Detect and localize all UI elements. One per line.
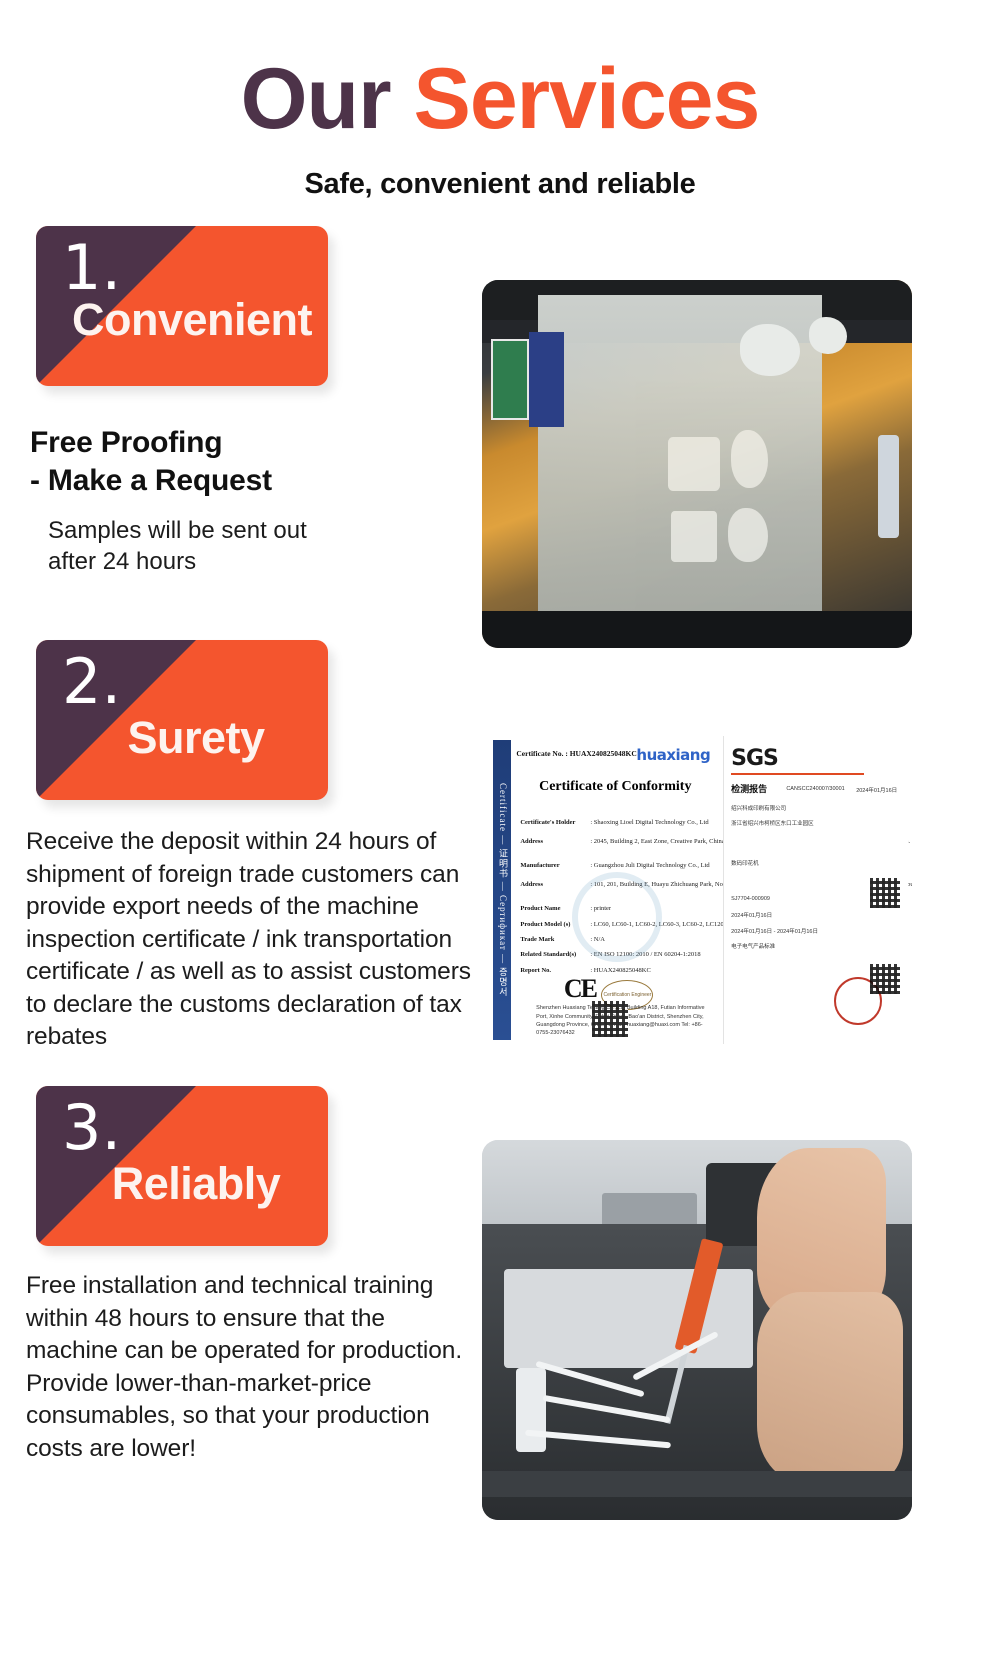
cert-row-label-1: Address — [520, 838, 590, 845]
service-2-badge-wrap: 2. Surety — [36, 640, 328, 800]
certificate-footer: Shenzhen Huaxiang Testing Co., Ltd Build… — [536, 1004, 714, 1037]
sgs-row-3: SJ7704-000909 — [731, 896, 770, 902]
page-subtitle: Safe, convenient and reliable — [0, 168, 1000, 201]
certificate-number-value: HUAX240825048KC — [570, 749, 637, 758]
page-title: Our Services — [0, 56, 1000, 142]
badge-card-3[interactable]: 3. Reliably — [36, 1086, 328, 1246]
badge-label-1: Convenient — [72, 294, 312, 346]
page-header: Our Services Safe, convenient and reliab… — [0, 0, 1000, 201]
sgs-row-5: 2024年01月16日 - 2024年01月16日 — [731, 927, 818, 935]
sgs-qr-code-2 — [870, 964, 900, 994]
service-1-note: Samples will be sent out after 24 hours — [48, 515, 318, 577]
sgs-underline — [731, 773, 863, 775]
cert-row-label-7: Related Standard(s) — [520, 951, 590, 958]
service-1-heading: Free Proofing - Make a Request — [30, 424, 450, 501]
cert-row-label-0: Certificate's Holder — [520, 819, 590, 826]
certificate-right-page: SGS 检测报告 CANSCC240007/30001 2024年01月16日 … — [723, 736, 908, 1043]
service-1-badge-wrap: 1. Convenient — [36, 226, 328, 386]
cert-row-value-2: : Guangzhou Juli Digital Technology Co.,… — [590, 862, 709, 869]
certificate-number: Certificate No. : HUAX240825048KC — [516, 749, 636, 758]
title-word-our: Our — [241, 51, 414, 147]
service-2-paragraph: Receive the deposit within 24 hours of s… — [26, 826, 476, 1054]
machine-rail — [482, 1471, 912, 1498]
badge-number-2: 2. — [62, 648, 121, 716]
technician-photo — [482, 1140, 912, 1520]
badge-number-1: 1. — [62, 234, 121, 302]
badge-label-3: Reliably — [36, 1158, 356, 1210]
film-pattern-2 — [731, 430, 768, 488]
certificate-photo: Certificate — 证明书 — Сертификат — 증명서 Cer… — [482, 730, 912, 1050]
sgs-row-1: 浙江省绍兴市柯桥区东口工业园区 — [731, 819, 814, 827]
metal-bracket — [602, 1193, 697, 1227]
service-1-text: Free Proofing - Make a Request Samples w… — [30, 424, 450, 577]
sgs-row-4: 2024年01月16日 — [731, 911, 772, 919]
sgs-row-6: 电子电气产品标准 — [731, 942, 775, 950]
sgs-report-date: 2024年01月16日 — [856, 786, 897, 794]
certificate-left-page: Certificate No. : HUAX240825048KC huaxia… — [516, 736, 714, 1043]
film-pattern-4 — [728, 508, 768, 562]
technician-arm-left — [757, 1292, 903, 1482]
service-1-heading-line1: Free Proofing — [30, 424, 450, 462]
badge-card-2[interactable]: 2. Surety — [36, 640, 328, 800]
service-1-heading-line2: - Make a Request — [30, 462, 450, 500]
cert-row-label-2: Manufacturer — [520, 862, 590, 869]
sgs-logo: SGS — [731, 746, 778, 771]
certificate-watermark — [572, 872, 662, 962]
film-pattern-5 — [740, 324, 800, 376]
green-label — [491, 339, 530, 420]
ce-mark: CE — [564, 974, 596, 1004]
film-pattern-1 — [668, 437, 719, 491]
certificate-number-label: Certificate No. : — [516, 749, 567, 758]
machine-panel — [504, 1269, 753, 1368]
ink-bottle — [878, 435, 900, 538]
service-3-badge-wrap: 3. Reliably — [36, 1086, 328, 1246]
blue-panel — [529, 332, 563, 428]
cert-row-value-8: : HUAX240825048KC — [590, 967, 651, 974]
sgs-qr-code-1 — [870, 878, 900, 908]
cable-connector — [516, 1368, 546, 1452]
certificate-title: Certificate of Conformity — [516, 779, 714, 795]
cert-row-label-3: Address — [520, 881, 590, 888]
printer-film-photo — [482, 280, 912, 648]
printer-bottom-bar — [482, 611, 912, 648]
badge-card-1[interactable]: 1. Convenient — [36, 226, 328, 386]
sgs-row-0: 绍兴科成印刷有限公司 — [731, 804, 786, 812]
title-word-services: Services — [413, 51, 759, 147]
badge-number-3: 3. — [62, 1094, 121, 1162]
sgs-row-2: 数码印花机 — [731, 859, 759, 867]
sgs-report-no: CANSCC240007/30001 — [786, 786, 844, 792]
certificate-side-text: Certificate — 证明书 — Сертификат — 증명서 — [494, 762, 509, 1018]
sgs-report-title: 检测报告 — [731, 782, 767, 795]
services-page: Our Services Safe, convenient and reliab… — [0, 0, 1000, 1658]
film-pattern-3 — [671, 511, 716, 562]
badge-label-2: Surety — [36, 712, 356, 764]
cert-row-value-0: : Shaoxing Lioel Digital Technology Co.,… — [590, 819, 708, 826]
huaxiang-logo: huaxiang — [636, 746, 710, 764]
service-3-paragraph: Free installation and technical training… — [26, 1270, 476, 1465]
